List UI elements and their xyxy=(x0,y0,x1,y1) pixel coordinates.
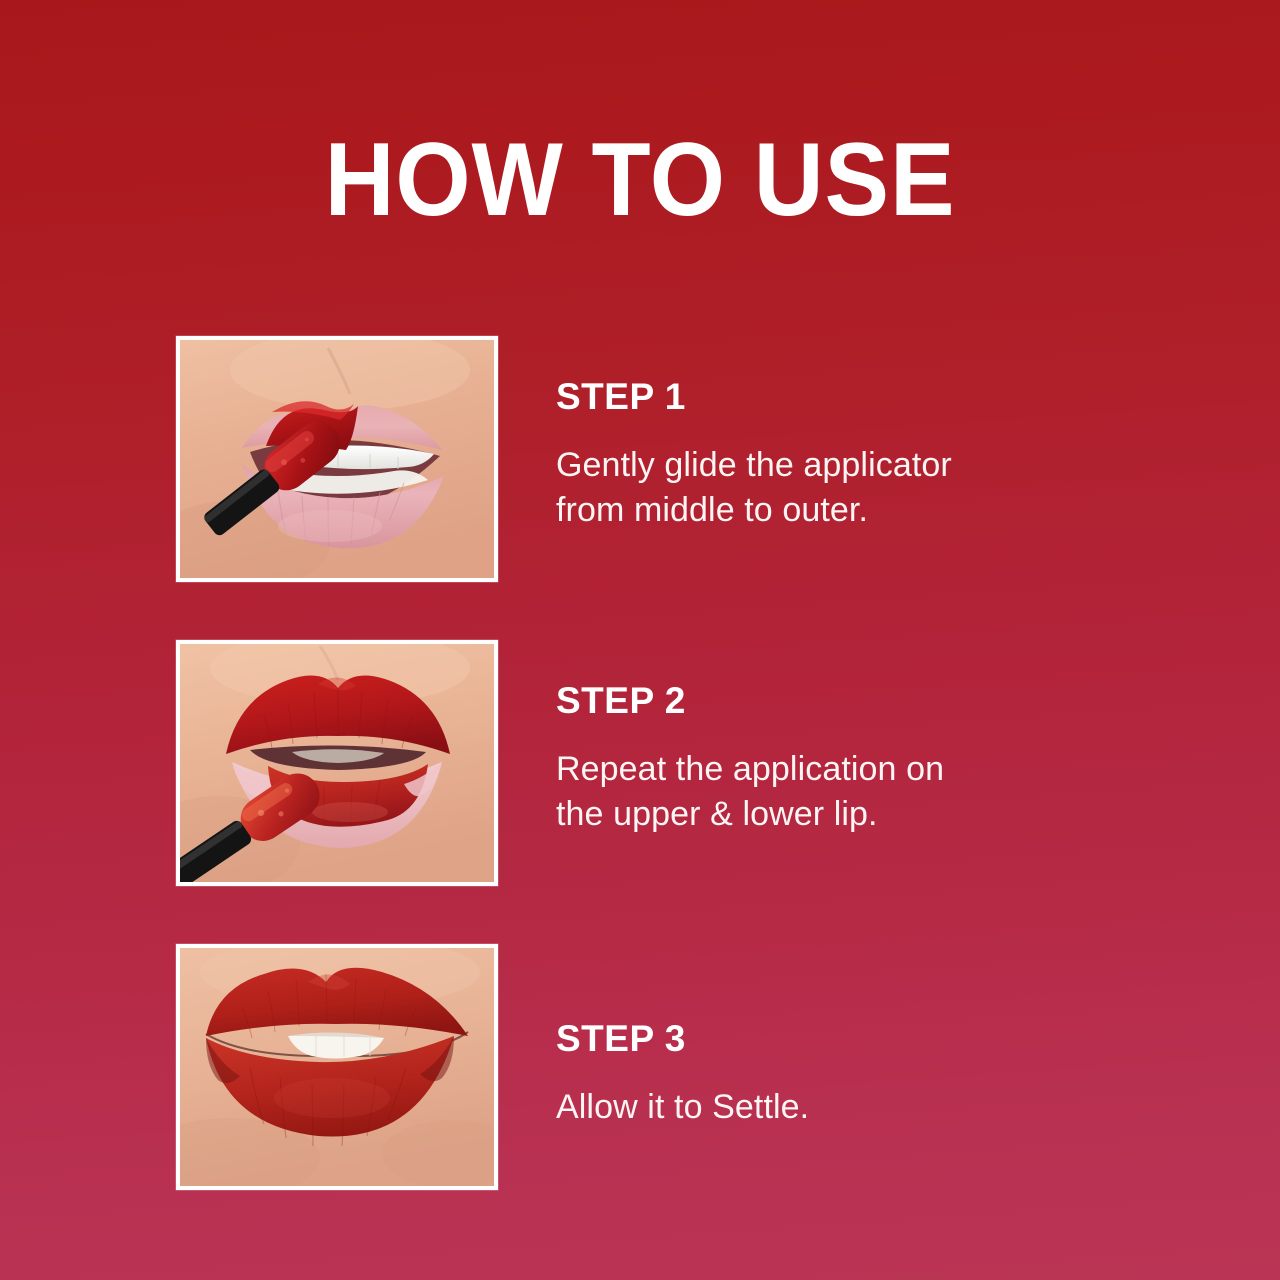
steps-list: STEP 1 Gently glide the applicator from … xyxy=(0,330,1280,1242)
step-3-label: STEP 3 xyxy=(556,1020,1116,1059)
step-2-text-block: STEP 2 Repeat the application on the upp… xyxy=(556,682,1116,838)
step-1-description-line-2: from middle to outer. xyxy=(556,488,1116,534)
step-3-description: Allow it to Settle. xyxy=(556,1085,1116,1131)
step-2-image-frame xyxy=(176,640,498,886)
step-1-label: STEP 1 xyxy=(556,378,1116,417)
step-row: STEP 1 Gently glide the applicator from … xyxy=(0,330,1280,634)
step-row: STEP 3 Allow it to Settle. xyxy=(0,938,1280,1242)
step-1-image-frame xyxy=(176,336,498,582)
step-2-description-line-1: Repeat the application on xyxy=(556,747,1116,793)
step-2-label: STEP 2 xyxy=(556,682,1116,721)
step-1-photo-applying-upper-lip xyxy=(180,340,494,578)
step-2-description: Repeat the application on the upper & lo… xyxy=(556,747,1116,838)
step-row: STEP 2 Repeat the application on the upp… xyxy=(0,634,1280,938)
page-title: HOW TO USE xyxy=(45,128,1235,232)
step-1-description: Gently glide the applicator from middle … xyxy=(556,443,1116,534)
step-3-text-block: STEP 3 Allow it to Settle. xyxy=(556,1020,1116,1130)
step-2-description-line-2: the upper & lower lip. xyxy=(556,792,1116,838)
step-3-image-frame xyxy=(176,944,498,1190)
step-3-photo-finished-lips xyxy=(180,948,494,1186)
step-1-text-block: STEP 1 Gently glide the applicator from … xyxy=(556,378,1116,534)
step-1-description-line-1: Gently glide the applicator xyxy=(556,443,1116,489)
step-2-photo-applying-lower-lip xyxy=(180,644,494,882)
step-3-description-line-1: Allow it to Settle. xyxy=(556,1085,1116,1131)
